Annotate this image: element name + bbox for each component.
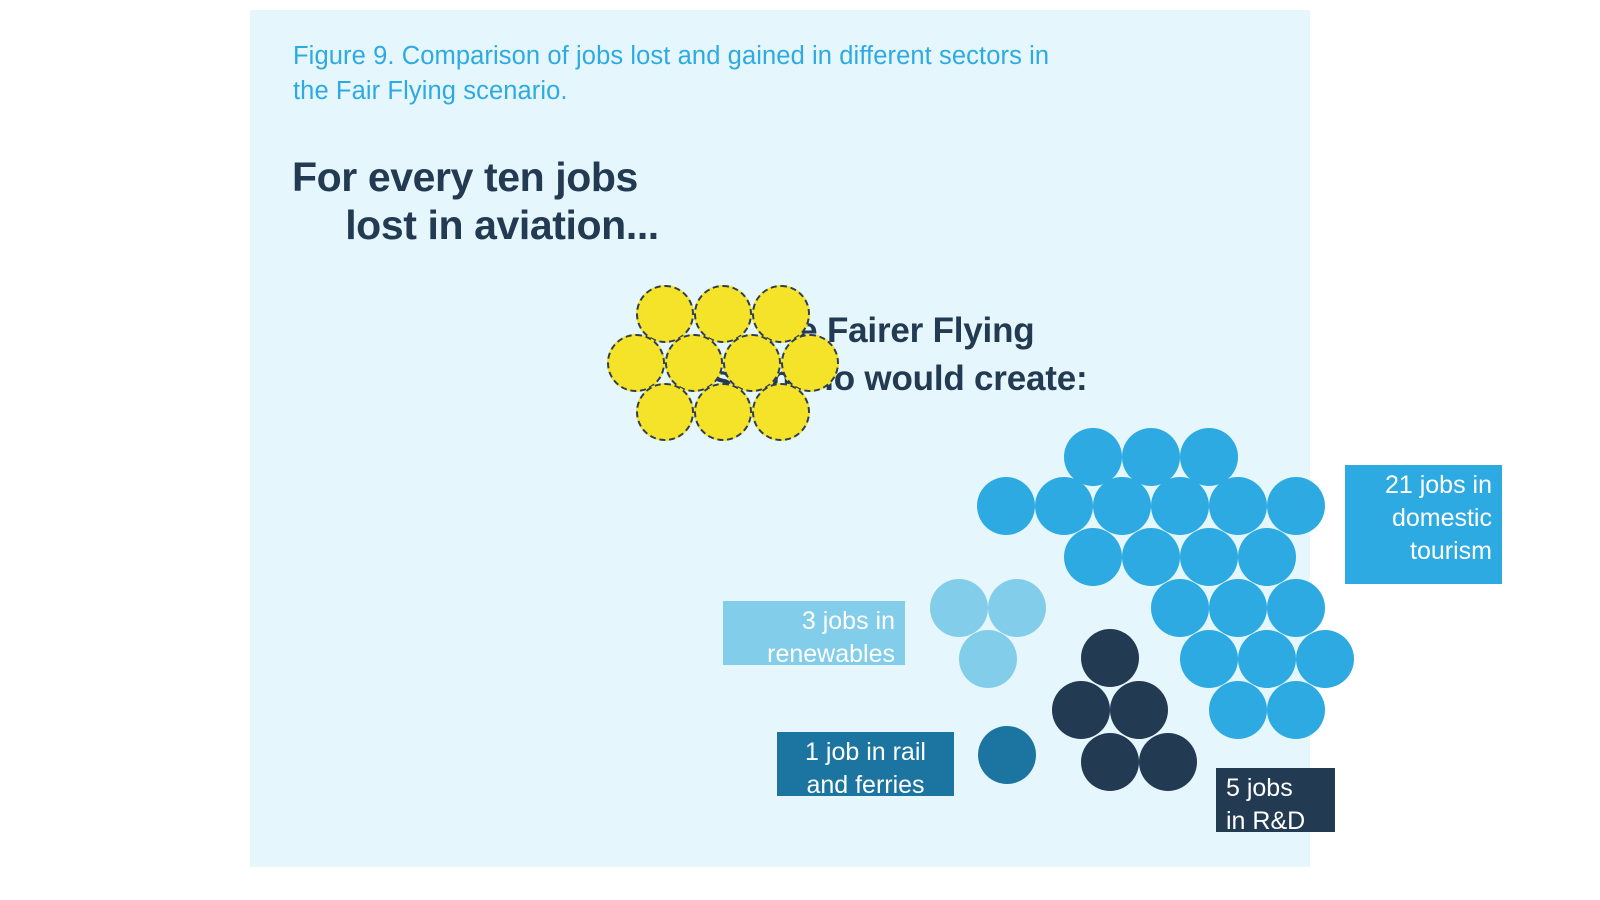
figure-caption-line-1: Figure 9. Comparison of jobs lost and ga… <box>293 42 932 70</box>
label-research-and-development-line-2: in R&D <box>1226 807 1305 835</box>
job-tourism-dot <box>1267 477 1325 535</box>
job-rnd-dot <box>1081 629 1139 687</box>
label-domestic-tourism-line-3: tourism <box>1410 537 1492 565</box>
headline-jobs-lost-line-2: lost in aviation... <box>292 201 712 249</box>
figure-caption: Figure 9. Comparison of jobs lost and ga… <box>293 39 1053 109</box>
job-renewables-dot <box>930 579 988 637</box>
label-rail-and-ferries-line-1: 1 job in rail <box>805 738 926 766</box>
label-renewables: 3 jobs in renewables <box>723 601 905 665</box>
label-domestic-tourism: 21 jobs in domestic tourism <box>1345 465 1502 584</box>
label-research-and-development-line-1: 5 jobs <box>1226 774 1293 802</box>
job-tourism-dot <box>1151 477 1209 535</box>
headline-jobs-lost-line-1: For every ten jobs <box>292 153 712 201</box>
label-renewables-line-2: renewables <box>767 640 895 668</box>
job-rnd-dot <box>1081 733 1139 791</box>
label-rail-and-ferries: 1 job in rail and ferries <box>777 732 954 796</box>
headline-jobs-lost: For every ten jobs lost in aviation... <box>292 153 712 249</box>
job-lost-dot <box>636 383 694 441</box>
figure-panel: Figure 9. Comparison of jobs lost and ga… <box>250 10 1310 867</box>
job-rnd-dot <box>1052 681 1110 739</box>
job-lost-dot <box>694 383 752 441</box>
job-tourism-dot <box>1093 477 1151 535</box>
label-domestic-tourism-line-1: 21 jobs in <box>1385 471 1492 499</box>
job-tourism-dot <box>1151 579 1209 637</box>
job-rnd-dot <box>1139 733 1197 791</box>
job-tourism-dot <box>1180 630 1238 688</box>
job-renewables-dot <box>988 579 1046 637</box>
label-domestic-tourism-line-2: domestic <box>1392 504 1492 532</box>
job-tourism-dot <box>1267 579 1325 637</box>
job-tourism-dot <box>1209 579 1267 637</box>
job-tourism-dot <box>1267 681 1325 739</box>
job-tourism-dot <box>1209 477 1267 535</box>
job-rnd-dot <box>1110 681 1168 739</box>
job-tourism-dot <box>1122 528 1180 586</box>
job-rail-dot <box>978 726 1036 784</box>
label-rail-and-ferries-line-2: and ferries <box>806 771 924 799</box>
job-tourism-dot <box>1238 528 1296 586</box>
job-tourism-dot <box>1180 528 1238 586</box>
job-lost-dot <box>752 383 810 441</box>
label-renewables-line-1: 3 jobs in <box>802 607 895 635</box>
job-tourism-dot <box>1064 528 1122 586</box>
job-lost-dot <box>781 334 839 392</box>
job-tourism-dot <box>1296 630 1354 688</box>
job-tourism-dot <box>977 477 1035 535</box>
label-research-and-development: 5 jobs in R&D <box>1216 768 1335 832</box>
job-tourism-dot <box>1209 681 1267 739</box>
infographic-stage: Figure 9. Comparison of jobs lost and ga… <box>0 0 1600 900</box>
job-tourism-dot <box>1035 477 1093 535</box>
job-renewables-dot <box>959 630 1017 688</box>
job-tourism-dot <box>1238 630 1296 688</box>
